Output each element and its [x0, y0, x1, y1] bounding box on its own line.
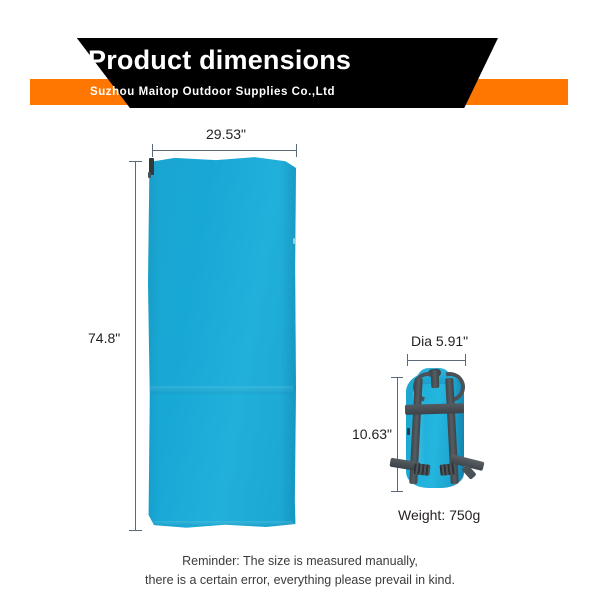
footer-reminder: Reminder: The size is measured manually,…: [0, 552, 600, 590]
sleeping-bag-flat-illustration: [148, 156, 296, 530]
flat-width-label: 29.53": [206, 126, 246, 142]
flat-height-label: 74.8": [88, 330, 120, 346]
sleeping-bag-left-shading: [148, 156, 160, 530]
flat-height-dimension-line: [135, 161, 136, 530]
sack-buckle-right: [439, 463, 456, 476]
sleeping-bag-right-shading: [280, 156, 296, 530]
sleeping-bag-body: [148, 156, 296, 530]
sack-diameter-cap-left: [407, 354, 408, 366]
flat-width-cap-right: [296, 144, 297, 157]
header-orange-accent-tab: [30, 79, 70, 105]
sack-height-dimension-line: [397, 377, 398, 491]
sack-height-cap-bottom: [391, 491, 403, 492]
footer-reminder-line-1: Reminder: The size is measured manually,: [0, 552, 600, 571]
sack-diameter-label: Dia 5.91": [411, 333, 468, 349]
sack-horizontal-strap-band: [405, 403, 464, 415]
sleeping-bag-bottom-hem: [151, 521, 293, 526]
sack-strap-vertical-middle: [431, 370, 440, 388]
page-title: Product dimensions: [88, 41, 468, 79]
sack-height-cap-top: [391, 377, 403, 378]
sack-height-label: 10.63": [352, 426, 392, 442]
sack-diameter-cap-right: [465, 354, 466, 366]
sack-diameter-dimension-line: [407, 360, 465, 361]
sack-buckle-left: [413, 463, 430, 476]
header-banner: Product dimensions Suzhou Maitop Outdoor…: [0, 0, 600, 120]
sack-side-tab: [407, 428, 410, 435]
flat-height-cap-top: [129, 161, 142, 162]
sleeping-bag-fold-crease: [150, 386, 293, 394]
sleeping-bag-seam-detail: [293, 238, 295, 244]
footer-reminder-line-2: there is a certain error, everything ple…: [0, 571, 600, 590]
compression-sack-illustration: [404, 368, 466, 490]
company-name: Suzhou Maitop Outdoor Supplies Co.,Ltd: [90, 80, 550, 104]
zipper-pull-icon: [148, 172, 151, 178]
flat-height-cap-bottom: [129, 530, 142, 531]
flat-width-dimension-line: [152, 150, 296, 151]
sack-weight-label: Weight: 750g: [398, 507, 480, 523]
